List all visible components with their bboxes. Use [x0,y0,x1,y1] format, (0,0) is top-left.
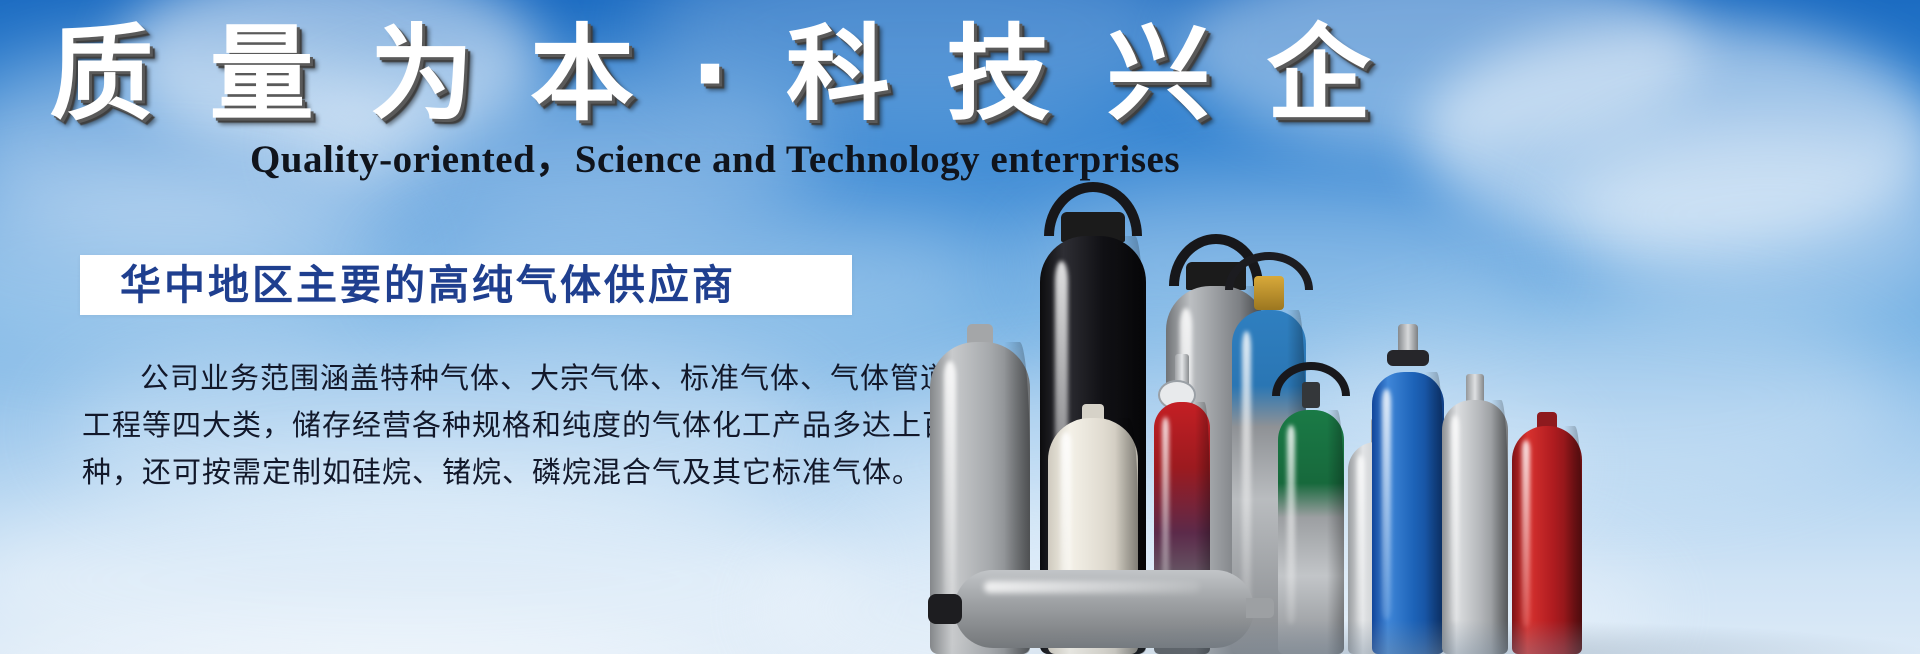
banner-description: 公司业务范围涵盖特种气体、大宗气体、标准气体、气体管道 工程等四大类，储存经营各… [82,355,872,496]
cylinder-valve [1302,382,1320,408]
tank-highlight [984,581,1200,593]
ground-shadow [940,620,1920,654]
cloud-decoration [0,470,860,654]
slogan-text: 华中地区主要的高纯气体供应商 [80,262,736,308]
cylinder-highlight [1451,415,1459,623]
description-line-3: 种，还可按需定制如硅烷、锗烷、磷烷混合气及其它标准气体。 [82,449,872,496]
hero-banner: 质 量 为 本 · 科 技 兴 企 Quality-oriented，Scien… [0,0,1920,654]
slogan-box: 华中地区主要的高纯气体供应商 [80,255,852,315]
cylinder-highlight [1382,389,1391,620]
gas-cylinder-group [940,0,1920,654]
dark-red-cylinder [1512,412,1582,654]
green-banded-cylinder [1278,364,1344,654]
cylinder-highlight [1357,455,1364,629]
blue-cylinder [1372,324,1444,654]
cylinder-shadow [1327,410,1344,654]
cylinder-highlight [1522,440,1530,627]
cylinder-highlight [944,361,956,617]
cylinder-shadow [1491,400,1508,654]
aluminium-cylinder-right [1442,374,1508,654]
valve-guard-icon [1387,350,1429,366]
description-line-1: 公司业务范围涵盖特种气体、大宗气体、标准气体、气体管道 [82,355,872,402]
cylinder-body [1372,372,1444,654]
brass-valve-icon [1254,276,1284,310]
cylinder-body [1278,410,1344,654]
cylinder-highlight [1242,331,1251,613]
tank-neck [1246,598,1274,618]
cylinder-body [1442,400,1508,654]
description-line-2: 工程等四大类，储存经营各种规格和纯度的气体化工产品多达上百 [82,402,872,449]
cylinder-highlight [1287,425,1295,625]
